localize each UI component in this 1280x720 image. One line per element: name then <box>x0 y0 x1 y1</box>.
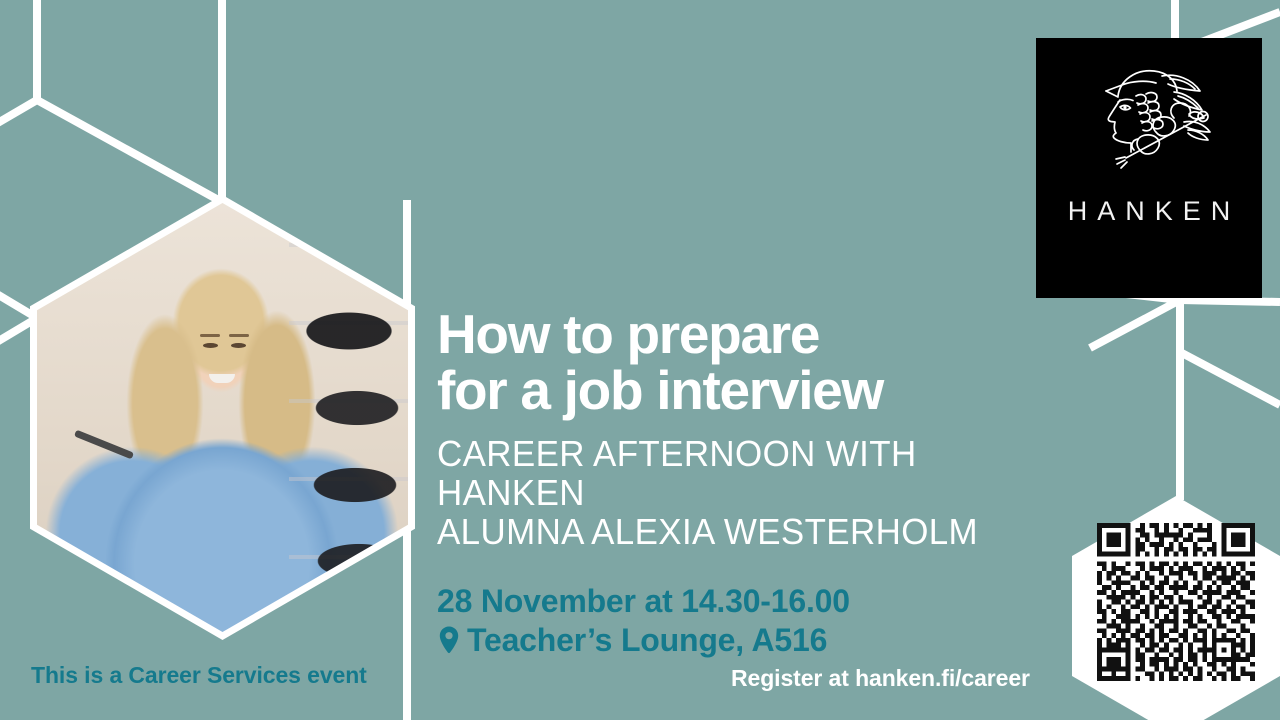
subtitle-line-2: ALUMNA ALEXIA WESTERHOLM <box>437 513 1058 552</box>
photo-detail <box>200 334 220 337</box>
photo-detail <box>229 334 249 337</box>
hanken-logo: HANKEN <box>1036 38 1262 298</box>
mercury-head-caduceus-icon <box>1084 60 1214 180</box>
photo-detail <box>209 374 235 383</box>
hanken-wordmark: HANKEN <box>1036 196 1262 227</box>
career-services-note: This is a Career Services event <box>31 662 367 689</box>
portrait-photo <box>37 203 408 632</box>
photo-detail <box>74 430 134 460</box>
registration-note[interactable]: Register at hanken.fi/career <box>731 665 1030 692</box>
qr-code[interactable] <box>1097 523 1255 681</box>
map-pin-icon <box>437 625 461 655</box>
page-title: How to prepare for a job interview <box>437 306 1077 418</box>
portrait-hex-clip <box>37 203 408 632</box>
page-subtitle: CAREER AFTERNOON WITH HANKEN ALUMNA ALEX… <box>437 435 1058 552</box>
poster-content: How to prepare for a job interview CAREE… <box>437 306 1077 660</box>
event-location: Teacher’s Lounge, A516 <box>437 621 1077 660</box>
event-poster: HANKEN <box>0 0 1280 720</box>
event-datetime: 28 November at 14.30-16.00 <box>437 582 1077 621</box>
title-line-2: for a job interview <box>437 362 1077 418</box>
subtitle-line-1: CAREER AFTERNOON WITH HANKEN <box>437 435 1058 513</box>
portrait-hex-frame <box>30 195 415 640</box>
speaker-portrait <box>30 195 415 640</box>
title-line-1: How to prepare <box>437 306 1077 362</box>
event-details: 28 November at 14.30-16.00 Teacher’s Lou… <box>437 582 1077 660</box>
photo-detail <box>203 343 218 348</box>
event-datetime-label: 28 November at 14.30-16.00 <box>437 582 850 621</box>
event-location-label: Teacher’s Lounge, A516 <box>467 621 827 660</box>
photo-detail <box>231 343 246 348</box>
